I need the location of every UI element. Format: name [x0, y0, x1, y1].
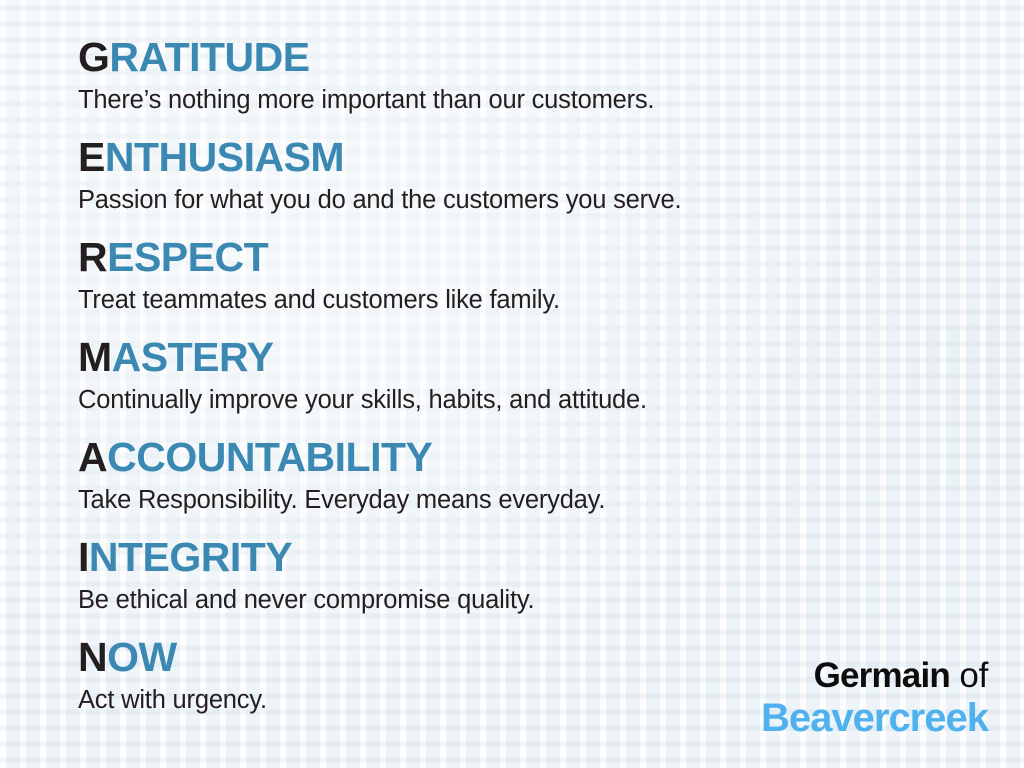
value-initial-letter: A — [78, 434, 107, 480]
value-initial-letter: E — [78, 134, 105, 180]
value-heading-integrity: INTEGRITY — [78, 534, 958, 581]
brand-location: Beavercreek — [761, 696, 988, 740]
value-initial-letter: G — [78, 34, 109, 80]
dealership-logo: Germain of Beavercreek — [761, 656, 988, 740]
value-initial-letter: N — [78, 634, 107, 680]
value-heading-respect: RESPECT — [78, 234, 958, 281]
value-item-gratitude: GRATITUDE There’s nothing more important… — [78, 34, 958, 134]
value-heading-rest: NTEGRITY — [89, 534, 292, 580]
value-heading-gratitude: GRATITUDE — [78, 34, 958, 81]
value-initial-letter: R — [78, 234, 107, 280]
value-heading-enthusiasm: ENTHUSIASM — [78, 134, 958, 181]
core-values-list: GRATITUDE There’s nothing more important… — [78, 34, 958, 734]
value-item-mastery: MASTERY Continually improve your skills,… — [78, 334, 958, 434]
value-heading-rest: CCOUNTABILITY — [107, 434, 432, 480]
value-description-mastery: Continually improve your skills, habits,… — [78, 381, 958, 417]
value-heading-rest: ESPECT — [107, 234, 268, 280]
value-item-accountability: ACCOUNTABILITY Take Responsibility. Ever… — [78, 434, 958, 534]
value-description-accountability: Take Responsibility. Everyday means ever… — [78, 481, 958, 517]
brand-connector: of — [950, 656, 988, 695]
value-description-integrity: Be ethical and never compromise quality. — [78, 581, 958, 617]
value-initial-letter: I — [78, 534, 89, 580]
value-item-integrity: INTEGRITY Be ethical and never compromis… — [78, 534, 958, 634]
values-poster: GRATITUDE There’s nothing more important… — [0, 0, 1024, 768]
value-heading-rest: OW — [107, 634, 177, 680]
brand-name: Germain — [814, 656, 950, 695]
value-heading-rest: ASTERY — [112, 334, 274, 380]
value-heading-accountability: ACCOUNTABILITY — [78, 434, 958, 481]
value-heading-mastery: MASTERY — [78, 334, 958, 381]
value-description-gratitude: There’s nothing more important than our … — [78, 81, 958, 117]
value-item-enthusiasm: ENTHUSIASM Passion for what you do and t… — [78, 134, 958, 234]
value-heading-rest: RATITUDE — [109, 34, 309, 80]
value-heading-rest: NTHUSIASM — [105, 134, 344, 180]
value-item-respect: RESPECT Treat teammates and customers li… — [78, 234, 958, 334]
value-description-respect: Treat teammates and customers like famil… — [78, 281, 958, 317]
value-initial-letter: M — [78, 334, 112, 380]
value-description-enthusiasm: Passion for what you do and the customer… — [78, 181, 958, 217]
brand-primary-line: Germain of — [761, 656, 988, 696]
